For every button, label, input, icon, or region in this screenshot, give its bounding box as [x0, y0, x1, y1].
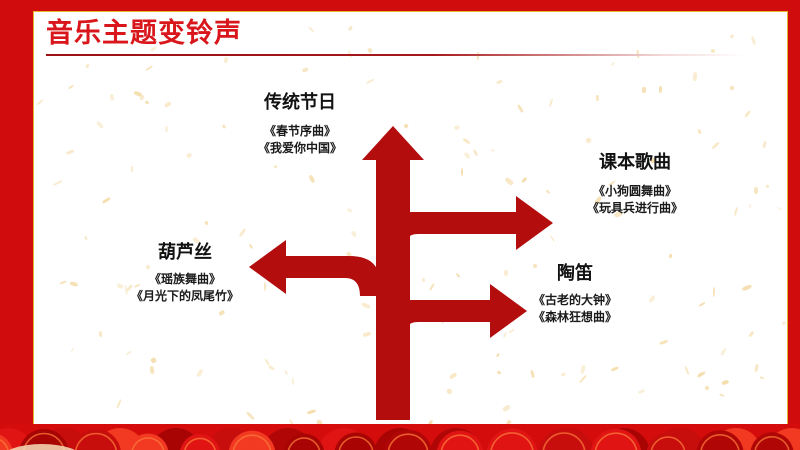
label-festival-item-0: 《春节序曲》 [200, 123, 400, 140]
label-ocarina-item-1: 《森林狂想曲》 [470, 309, 680, 326]
label-festival: 传统节日 《春节序曲》 《我爱你中国》 [200, 92, 400, 157]
label-hulusi-item-1: 《月光下的凤尾竹》 [85, 288, 285, 305]
confetti-background [34, 12, 787, 428]
label-textbook-item-1: 《玩具兵进行曲》 [530, 200, 740, 217]
label-textbook: 课本歌曲 《小狗圆舞曲》 《玩具兵进行曲》 [530, 152, 740, 217]
label-hulusi: 葫芦丝 《瑶族舞曲》 《月光下的凤尾竹》 [85, 242, 285, 305]
page-title-text: 音乐主题变铃声 [46, 20, 242, 47]
label-festival-item-1: 《我爱你中国》 [200, 140, 400, 157]
label-festival-heading: 传统节日 [200, 92, 400, 115]
label-textbook-heading: 课本歌曲 [530, 152, 740, 175]
title-underline [46, 54, 746, 56]
slide-canvas: 音乐主题变铃声 传统节日 《春节序曲》 《我爱你中国》 课本歌曲 《小狗圆舞曲》 [0, 0, 800, 450]
label-hulusi-item-0: 《瑶族舞曲》 [85, 271, 285, 288]
label-textbook-item-0: 《小狗圆舞曲》 [530, 183, 740, 200]
label-ocarina-heading: 陶笛 [470, 263, 680, 286]
label-ocarina-item-0: 《古老的大钟》 [470, 292, 680, 309]
label-hulusi-heading: 葫芦丝 [85, 242, 285, 265]
page-title: 音乐主题变铃声 [46, 20, 242, 47]
slide-content-frame [33, 11, 788, 429]
bottom-cloud-pattern [0, 424, 800, 450]
label-ocarina: 陶笛 《古老的大钟》 《森林狂想曲》 [470, 263, 680, 326]
